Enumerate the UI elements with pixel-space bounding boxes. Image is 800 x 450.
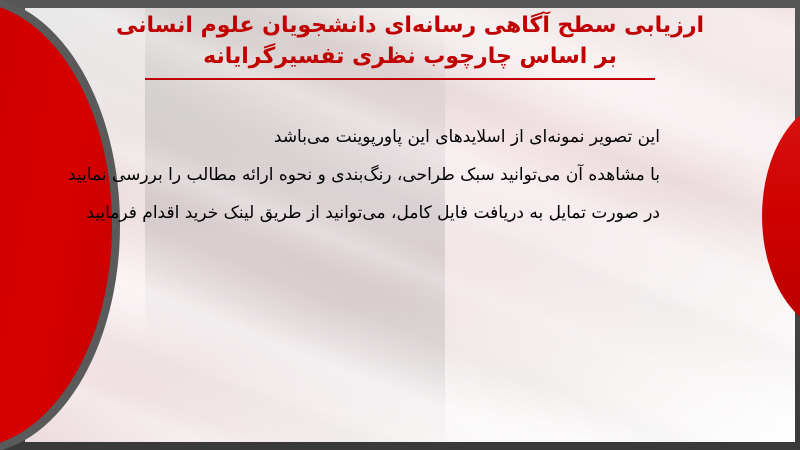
slide-body: این تصویر نمونه‌ای از اسلایدهای این پاور… <box>40 118 660 232</box>
slide-title-line-1: ارزیابی سطح آگاهی رسانه‌ای دانشجویان علو… <box>110 10 710 41</box>
slide-body-line-3: در صورت تمایل به دریافت فایل کامل، می‌تو… <box>40 194 660 232</box>
slide-body-line-2: با مشاهده آن می‌توانید سبک طراحی، رنگ‌بن… <box>40 156 660 194</box>
slide-title-line-2: بر اساس چارچوب نظری تفسیرگرایانه <box>110 41 710 72</box>
presentation-slide: ارزیابی سطح آگاهی رسانه‌ای دانشجویان علو… <box>0 0 800 450</box>
slide-title: ارزیابی سطح آگاهی رسانه‌ای دانشجویان علو… <box>110 10 710 72</box>
title-underline-rule <box>145 78 655 80</box>
slide-body-line-1: این تصویر نمونه‌ای از اسلایدهای این پاور… <box>40 118 660 156</box>
